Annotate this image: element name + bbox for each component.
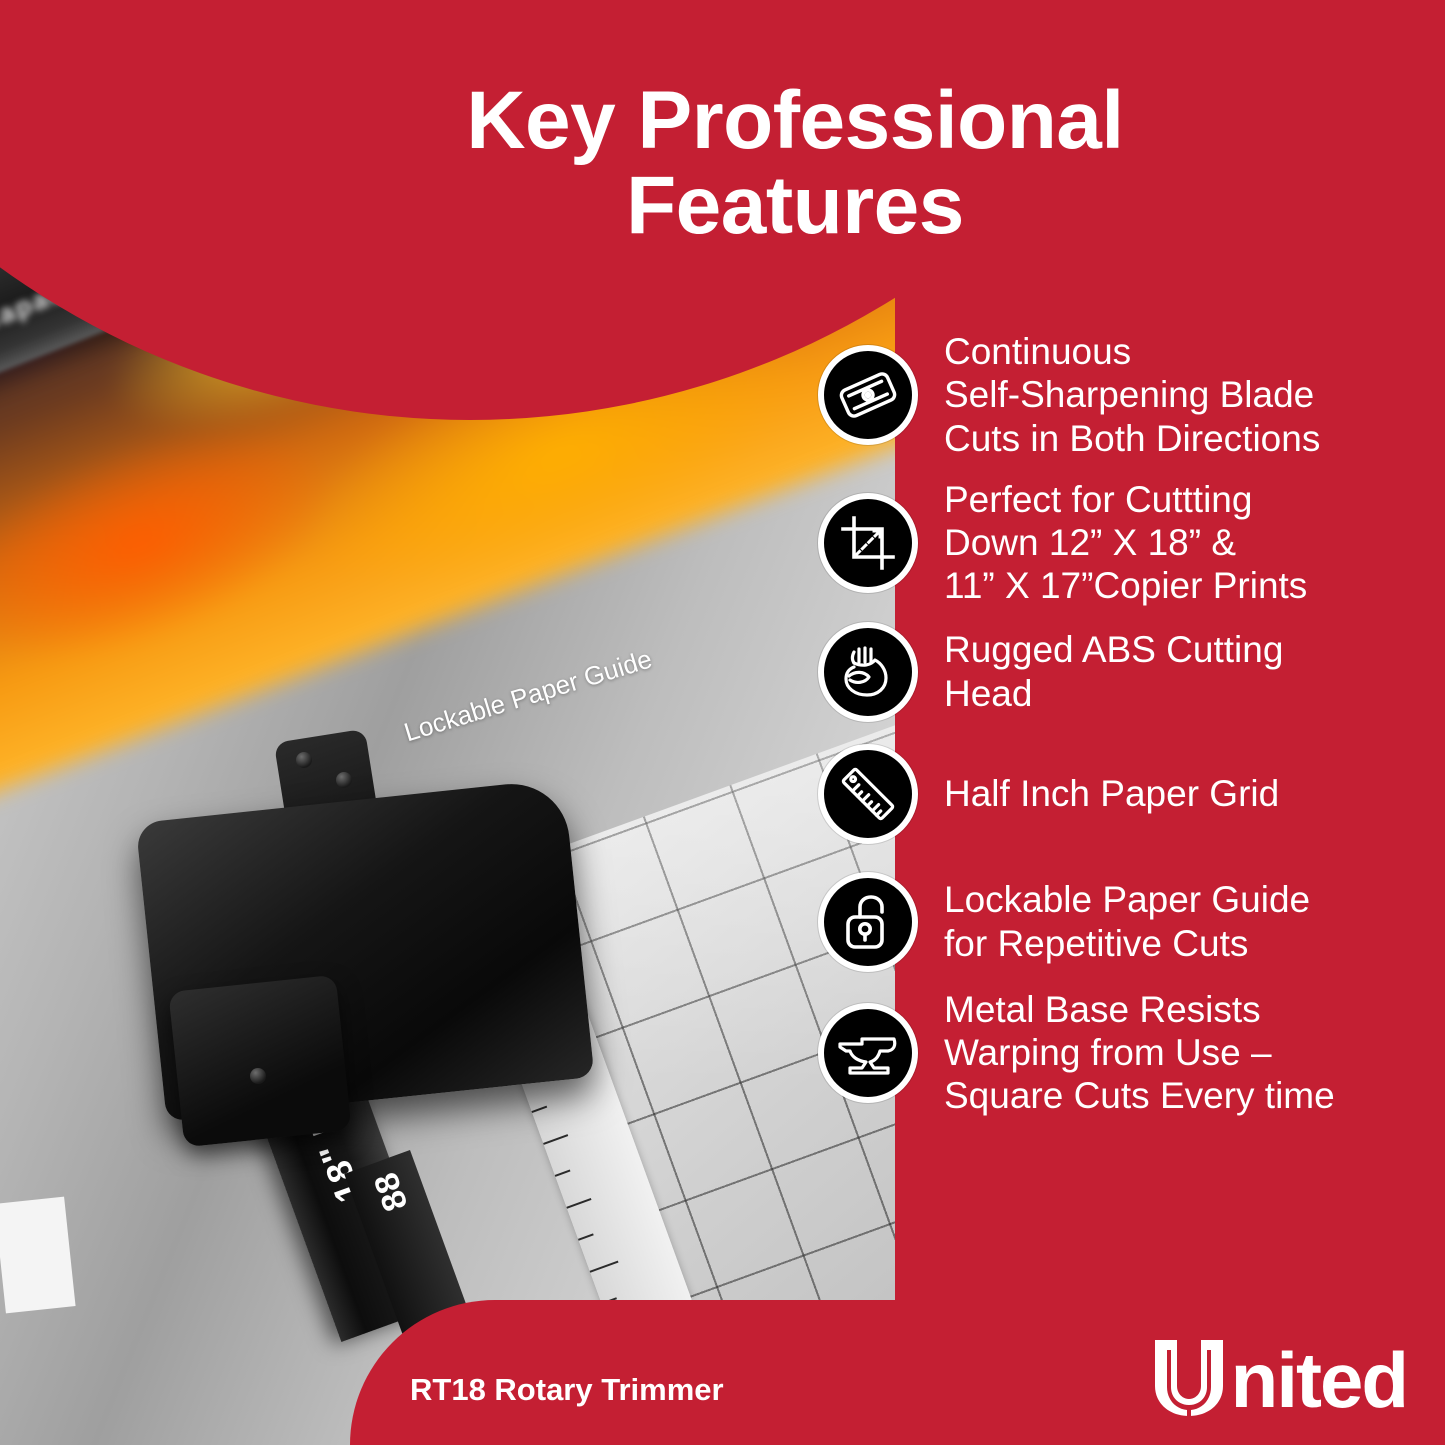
feature-text: Half Inch Paper Grid <box>944 772 1279 815</box>
feature-line: 11” X 17”Copier Prints <box>944 564 1307 607</box>
anvil-icon <box>818 1003 918 1103</box>
feature-item: Perfect for Cuttting Down 12” X 18” & 11… <box>818 478 1438 608</box>
feature-text: Perfect for Cuttting Down 12” X 18” & 11… <box>944 478 1307 608</box>
feature-line: Head <box>944 672 1283 715</box>
feature-line: Self-Sharpening Blade <box>944 373 1320 416</box>
feature-line: Rugged ABS Cutting <box>944 628 1283 671</box>
ruler-icon <box>818 744 918 844</box>
united-u-mark-icon <box>1151 1336 1227 1425</box>
product-name: RT18 Rotary Trimmer <box>410 1372 724 1408</box>
feature-item: Lockable Paper Guide for Repetitive Cuts <box>818 872 1438 972</box>
crop-marks-icon <box>818 493 918 593</box>
feature-line: Down 12” X 18” & <box>944 521 1307 564</box>
page-title: Key Professional Features <box>300 78 1290 249</box>
title-line-2: Features <box>626 160 964 251</box>
flexed-bicep-icon <box>818 622 918 722</box>
feature-line: Square Cuts Every time <box>944 1074 1335 1117</box>
feature-text: Continuous Self-Sharpening Blade Cuts in… <box>944 330 1320 460</box>
feature-item: Half Inch Paper Grid <box>818 744 1438 844</box>
feature-line: Half Inch Paper Grid <box>944 772 1279 815</box>
open-padlock-icon <box>818 872 918 972</box>
feature-list: Continuous Self-Sharpening Blade Cuts in… <box>818 330 1438 1128</box>
feature-text: Lockable Paper Guide for Repetitive Cuts <box>944 878 1310 965</box>
feature-line: Continuous <box>944 330 1320 373</box>
feature-text: Metal Base Resists Warping from Use – Sq… <box>944 988 1335 1118</box>
infographic-canvas: Cutting Capacity 10 Sheets 20lb Bond 6 1… <box>0 0 1445 1445</box>
feature-item: Continuous Self-Sharpening Blade Cuts in… <box>818 330 1438 460</box>
feature-text: Rugged ABS Cutting Head <box>944 628 1283 715</box>
brand-wordmark: nited <box>1231 1341 1407 1419</box>
feature-line: Cuts in Both Directions <box>944 417 1320 460</box>
blade-sharpener-icon <box>818 345 918 445</box>
feature-item: Metal Base Resists Warping from Use – Sq… <box>818 988 1438 1118</box>
feature-line: Metal Base Resists <box>944 988 1335 1031</box>
feature-line: Lockable Paper Guide <box>944 878 1310 921</box>
feature-line: Warping from Use – <box>944 1031 1335 1074</box>
feature-line: for Repetitive Cuts <box>944 922 1310 965</box>
feature-item: Rugged ABS Cutting Head <box>818 622 1438 722</box>
brand-logo-united: nited <box>1151 1332 1407 1428</box>
title-line-1: Key Professional <box>466 75 1123 166</box>
feature-line: Perfect for Cuttting <box>944 478 1307 521</box>
